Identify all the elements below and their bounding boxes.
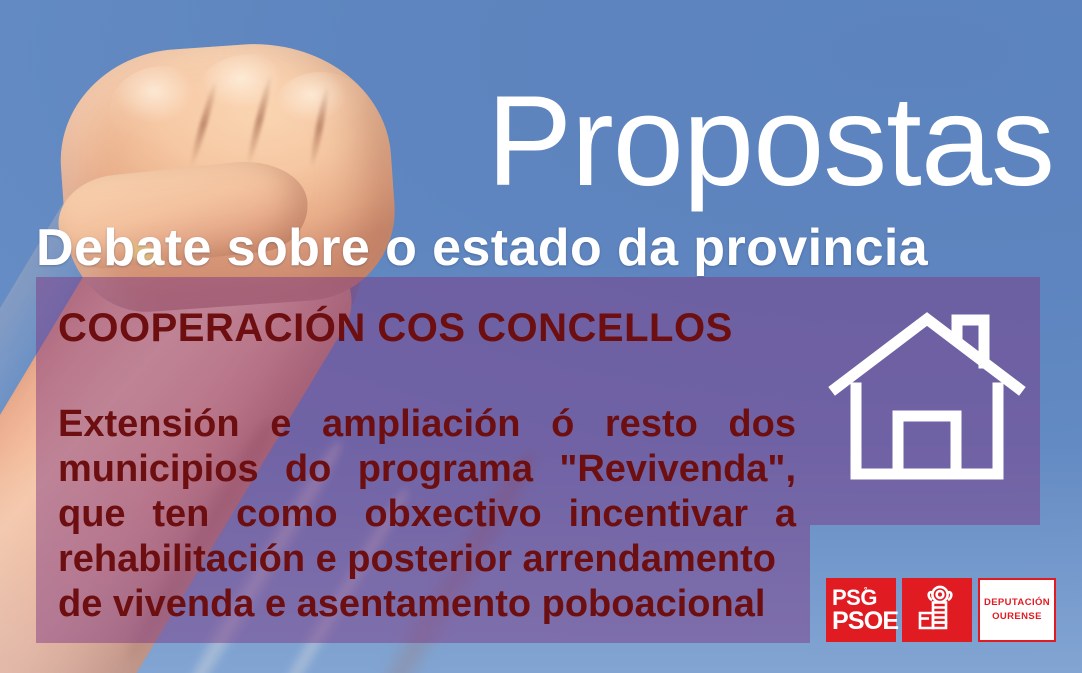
section-body-text: Extensión e ampliación ó resto dos munic… bbox=[58, 403, 796, 580]
logo-strip: PSG° PSOE DEPUTACIÓN O bbox=[826, 578, 1056, 642]
logo-psg-text: PSG bbox=[832, 585, 877, 610]
section-body: Extensión e ampliación ó resto dos munic… bbox=[58, 402, 796, 627]
house-icon bbox=[828, 306, 1026, 486]
page-subtitle: Debate sobre o estado da provincia bbox=[36, 222, 1046, 274]
rose-fist-icon bbox=[915, 584, 959, 636]
logo-rose-fist bbox=[902, 578, 972, 642]
logo-psg-psoe: PSG° PSOE bbox=[826, 578, 896, 642]
logo-psoe-text: PSOE bbox=[832, 609, 898, 633]
section-heading: COOPERACIÓN COS CONCELLOS bbox=[58, 306, 733, 351]
logo-deputacion-line1: DEPUTACIÓN bbox=[984, 596, 1050, 610]
logo-deputacion-line2: OURENSE bbox=[992, 610, 1042, 624]
page-title: Propostas bbox=[487, 78, 1054, 206]
poster: Propostas Debate sobre o estado da provi… bbox=[0, 0, 1082, 673]
logo-deputacion-ourense: DEPUTACIÓN OURENSE bbox=[978, 578, 1056, 642]
logo-psg-mark: ° bbox=[864, 586, 867, 595]
section-body-last-line: de vivenda e asentamento poboacional bbox=[58, 582, 796, 627]
logo-psg-line: PSG° bbox=[832, 587, 877, 608]
